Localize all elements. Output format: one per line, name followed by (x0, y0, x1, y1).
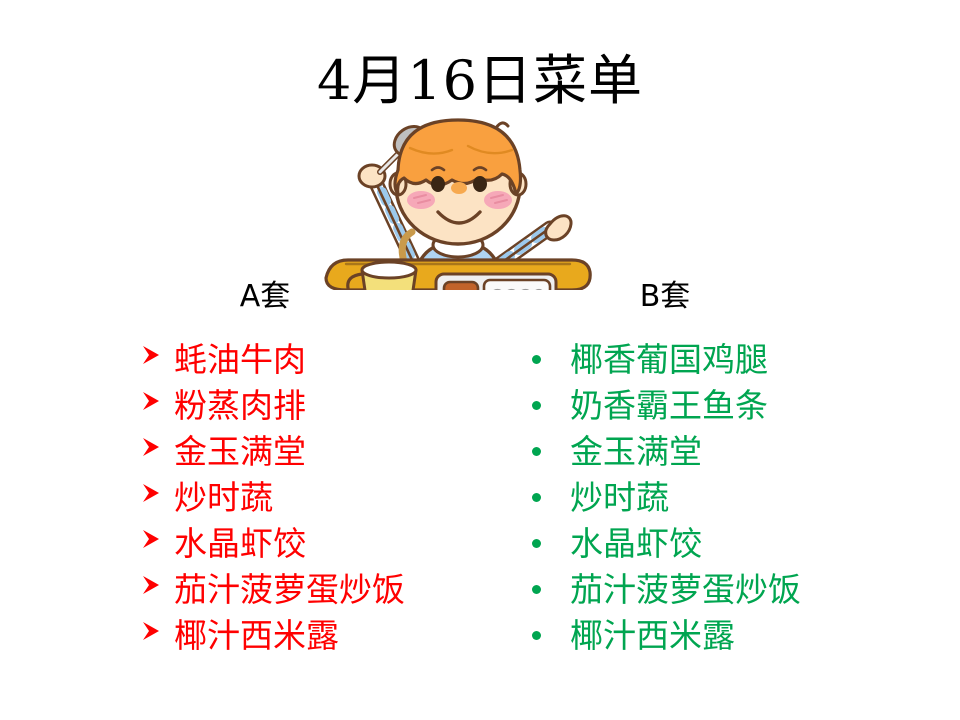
arrow-bullet-icon (140, 615, 174, 661)
dish-name: 奶香霸王鱼条 (570, 383, 768, 429)
dish-name: 椰香葡国鸡腿 (570, 337, 768, 383)
dish-name: 茄汁菠萝蛋炒饭 (570, 567, 801, 613)
list-item: 金玉满堂 (528, 429, 928, 475)
dot-bullet-icon (528, 478, 570, 524)
list-item: 金玉满堂 (140, 429, 520, 475)
page-title: 4月16日菜单 (0, 48, 960, 114)
dish-name: 金玉满堂 (570, 429, 702, 475)
menu-slide: 4月16日菜单 (0, 0, 960, 720)
arrow-bullet-icon (140, 339, 174, 385)
dish-name: 粉蒸肉排 (174, 383, 306, 429)
dish-name: 水晶虾饺 (570, 521, 702, 567)
dish-name: 椰汁西米露 (570, 613, 735, 659)
list-item: 茄汁菠萝蛋炒饭 (528, 567, 928, 613)
dot-bullet-icon (528, 386, 570, 432)
list-item: 水晶虾饺 (528, 521, 928, 567)
dot-bullet-icon (528, 524, 570, 570)
menu-list-set-b: 椰香葡国鸡腿 奶香霸王鱼条 金玉满堂 炒时蔬 水晶虾饺 茄汁菠萝蛋炒饭 椰汁西米… (528, 337, 928, 659)
dish-name: 炒时蔬 (570, 475, 669, 521)
arrow-bullet-icon (140, 523, 174, 569)
list-item: 粉蒸肉排 (140, 383, 520, 429)
list-item: 炒时蔬 (140, 475, 520, 521)
dot-bullet-icon (528, 616, 570, 662)
dish-name: 茄汁菠萝蛋炒饭 (174, 567, 405, 613)
list-item: 水晶虾饺 (140, 521, 520, 567)
dot-bullet-icon (528, 570, 570, 616)
menu-list-set-a: 蚝油牛肉 粉蒸肉排 金玉满堂 炒时蔬 水晶虾饺 茄汁菠萝蛋炒饭 椰汁西米露 (140, 337, 520, 659)
dot-bullet-icon (528, 340, 570, 386)
arrow-bullet-icon (140, 431, 174, 477)
arrow-bullet-icon (140, 477, 174, 523)
list-item: 椰汁西米露 (140, 613, 520, 659)
dish-name: 金玉满堂 (174, 429, 306, 475)
list-item: 炒时蔬 (528, 475, 928, 521)
list-item: 茄汁菠萝蛋炒饭 (140, 567, 520, 613)
column-heading-set-a: A套 (155, 278, 375, 316)
dish-name: 炒时蔬 (174, 475, 273, 521)
list-item: 蚝油牛肉 (140, 337, 520, 383)
dish-name: 蚝油牛肉 (174, 337, 306, 383)
column-heading-set-b: B套 (555, 278, 775, 316)
child-eating-clipart (318, 112, 594, 290)
dish-name: 水晶虾饺 (174, 521, 306, 567)
list-item: 椰香葡国鸡腿 (528, 337, 928, 383)
arrow-bullet-icon (140, 385, 174, 431)
list-item: 奶香霸王鱼条 (528, 383, 928, 429)
arrow-bullet-icon (140, 569, 174, 615)
dish-name: 椰汁西米露 (174, 613, 339, 659)
dot-bullet-icon (528, 432, 570, 478)
list-item: 椰汁西米露 (528, 613, 928, 659)
